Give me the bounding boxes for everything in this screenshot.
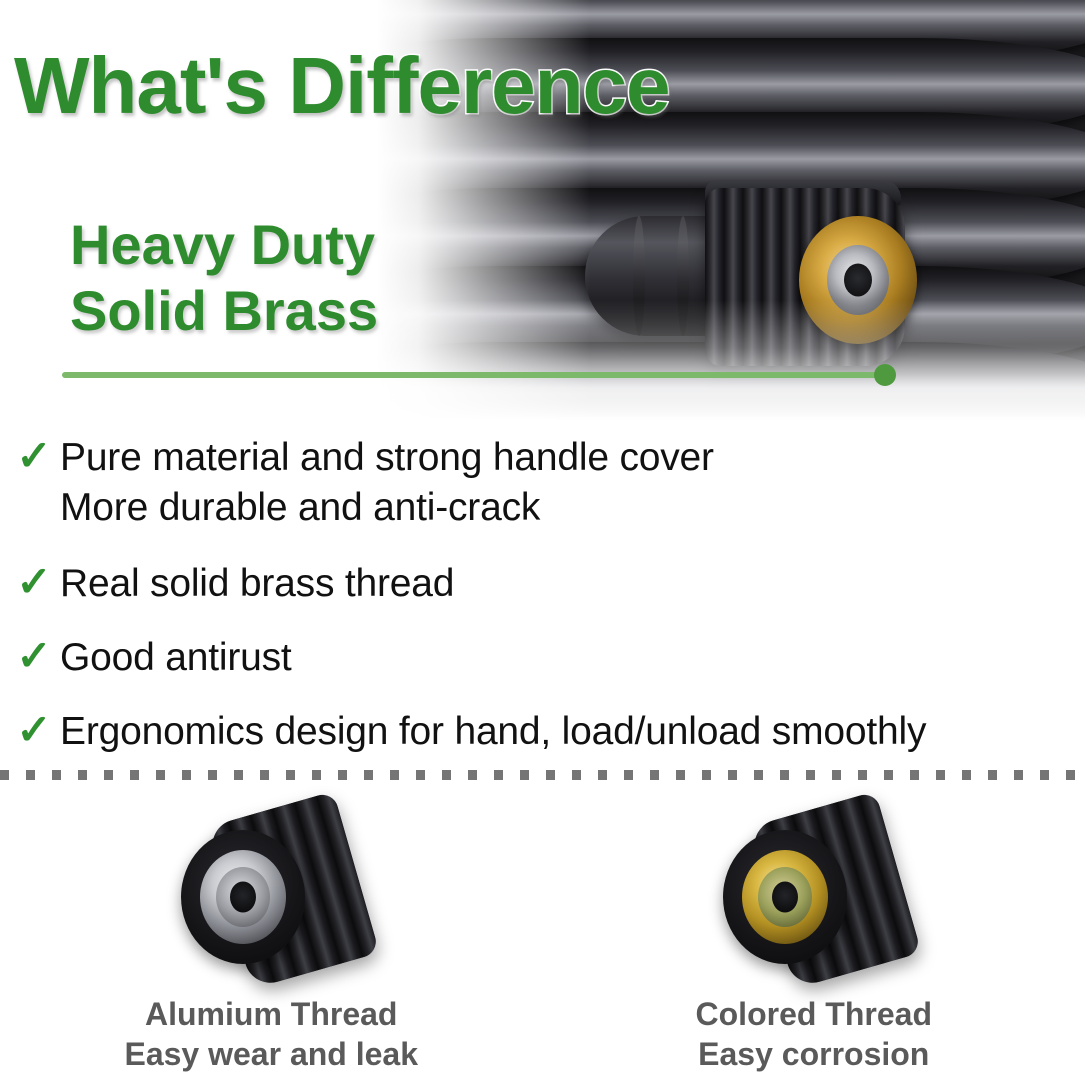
feature-text: Ergonomics design for hand, load/unload … <box>60 706 926 758</box>
feature-text: More durable and anti-crack <box>60 482 540 534</box>
product-infographic: What's Difference Heavy Duty Solid Brass… <box>0 0 1085 1089</box>
photo-bottom-fade <box>330 300 1085 420</box>
page-title: What's Difference <box>14 44 670 128</box>
colored-thread-ring <box>742 850 828 944</box>
fitting-face <box>181 830 305 964</box>
feature-list: ✓ Pure material and strong handle cover … <box>0 432 1085 768</box>
list-item: ✓ Good antirust <box>0 632 1085 684</box>
check-icon: ✓ <box>8 632 60 680</box>
callout-pointer-line <box>62 372 890 378</box>
comparison-item-colored: Colored Thread Easy corrosion <box>543 800 1085 1089</box>
comparison-item-aluminum: Alumium Thread Easy wear and leak <box>0 800 543 1089</box>
callout-pointer-dot <box>874 364 896 386</box>
comparison-caption: Alumium Thread Easy wear and leak <box>124 994 418 1074</box>
colored-fitting-photo <box>711 800 916 980</box>
coupler-bore <box>844 264 872 297</box>
list-item: ✓ Ergonomics design for hand, load/unloa… <box>0 706 1085 758</box>
section-divider <box>0 770 1085 780</box>
hero-subtitle: Heavy Duty Solid Brass <box>70 212 378 344</box>
check-icon: ✓ <box>8 432 60 480</box>
check-icon: ✓ <box>8 558 60 606</box>
comparison-section: Alumium Thread Easy wear and leak Colore… <box>0 800 1085 1089</box>
list-item: ✓ Real solid brass thread <box>0 558 1085 610</box>
list-item-continuation: More durable and anti-crack <box>0 482 1085 534</box>
inner-ring <box>758 867 812 927</box>
inner-ring <box>216 867 270 927</box>
fitting-bore <box>772 882 798 913</box>
feature-text: Real solid brass thread <box>60 558 454 610</box>
fitting-bore <box>230 882 256 913</box>
feature-text: Pure material and strong handle cover <box>60 432 714 484</box>
feature-text: Good antirust <box>60 632 292 684</box>
comparison-caption: Colored Thread Easy corrosion <box>696 994 932 1074</box>
list-item: ✓ Pure material and strong handle cover <box>0 432 1085 484</box>
aluminum-fitting-photo <box>169 800 374 980</box>
aluminum-thread-ring <box>200 850 286 944</box>
check-icon: ✓ <box>8 706 60 754</box>
fitting-face <box>723 830 847 964</box>
